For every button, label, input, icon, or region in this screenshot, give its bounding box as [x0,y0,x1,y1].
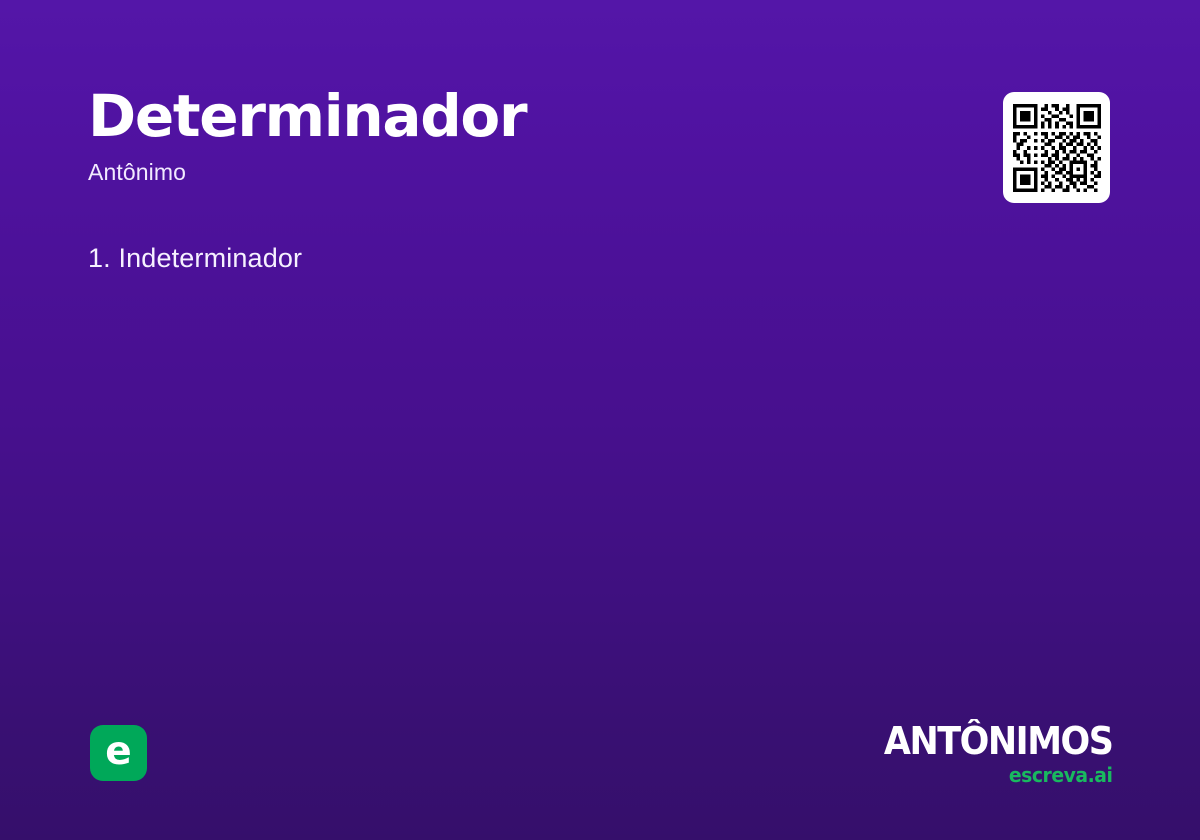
headline-block: Determinador Antônimo [88,86,928,186]
entry-subtitle: Antônimo [88,159,928,186]
escreva-e-icon[interactable]: e [90,725,147,781]
antonym-card: Determinador Antônimo 1. Indeterminador [0,0,1200,840]
list-item: 1. Indeterminador [88,238,948,279]
brand-name: ANTÔNIMOS [883,722,1112,760]
app-badge-letter: e [105,732,131,771]
page-title: Determinador [88,86,928,147]
qr-code[interactable] [1003,92,1110,203]
qr-code-icon [1013,104,1101,192]
brand-tagline: escreva.ai [878,765,1112,785]
antonym-list: 1. Indeterminador [88,238,948,279]
brand-wordmark[interactable]: ANTÔNIMOS escreva.ai [864,722,1112,785]
